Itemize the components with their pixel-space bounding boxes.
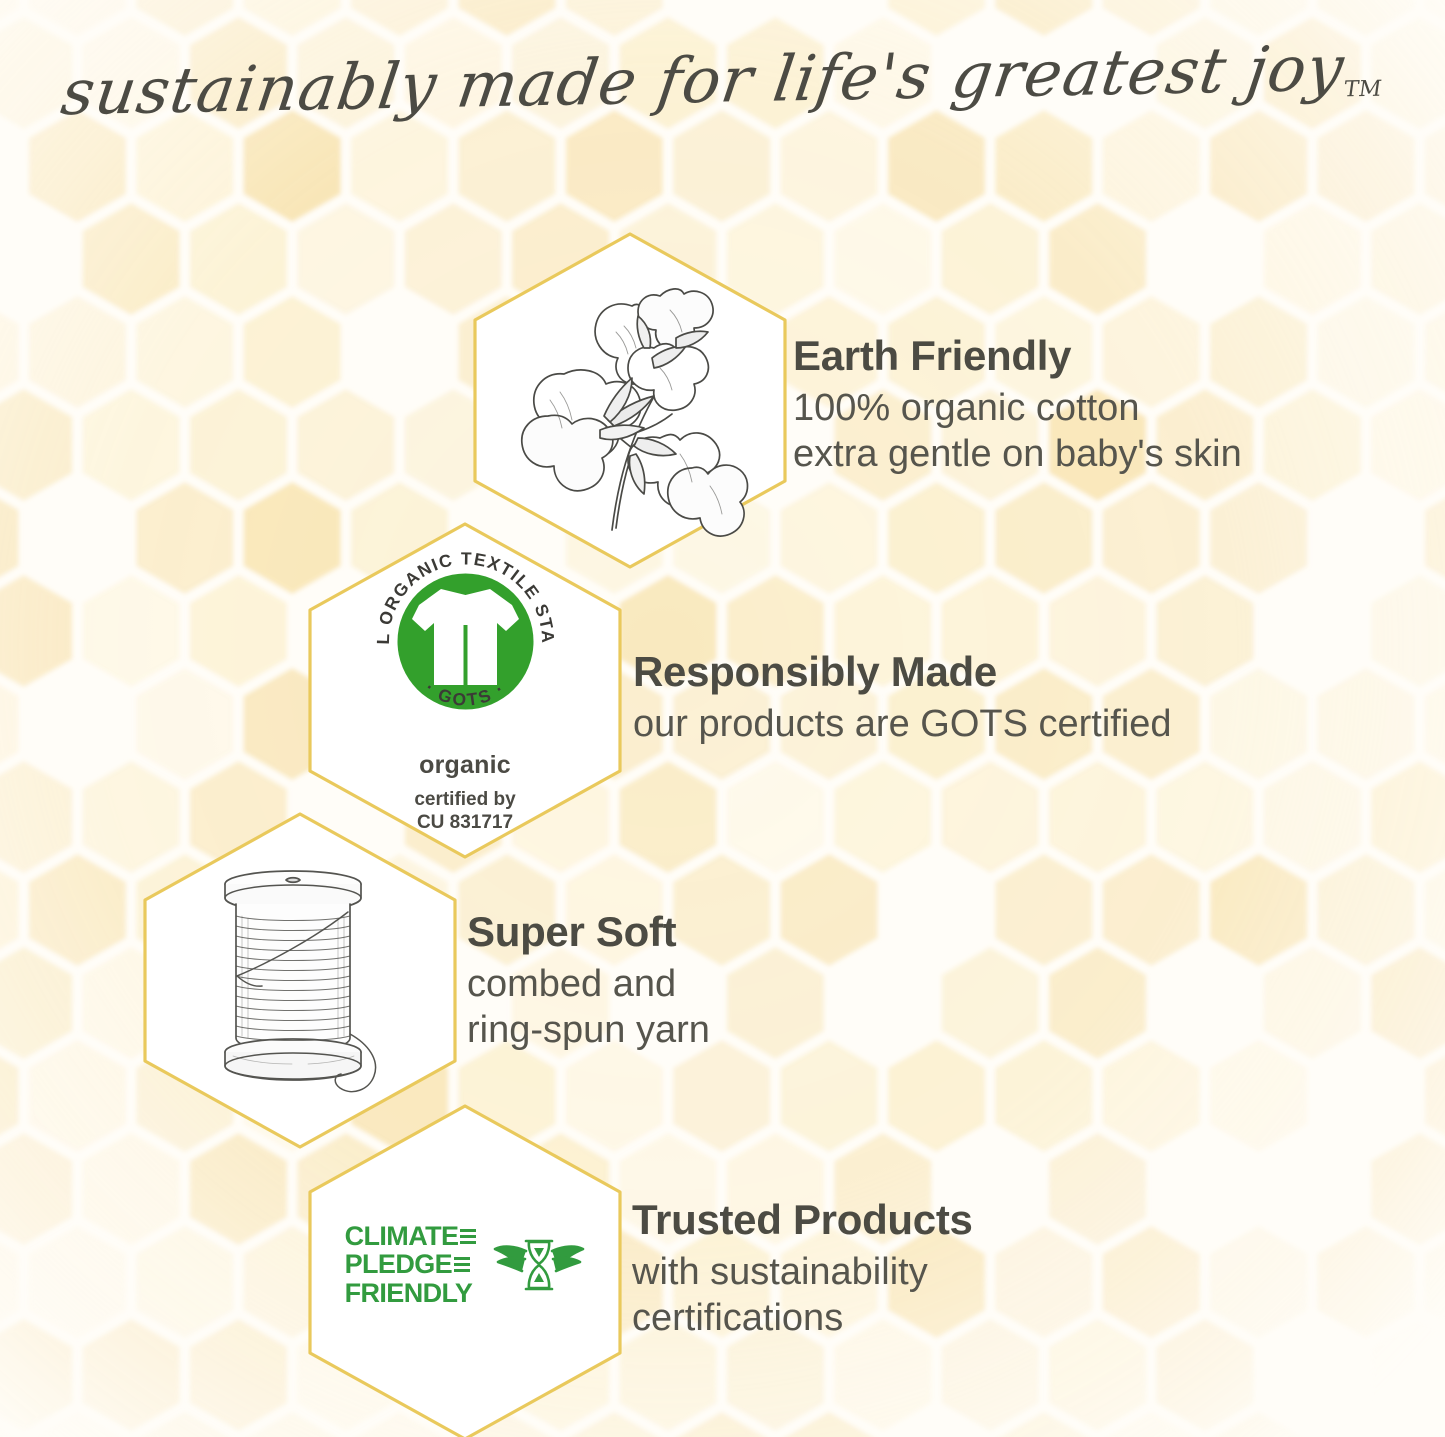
climate-pledge-wordmark: CLIMATE PLEDGE FRIENDLY bbox=[345, 1222, 477, 1307]
gots-caption-organic: organic bbox=[419, 751, 511, 780]
feature-title: Trusted Products bbox=[632, 1196, 973, 1243]
cpf-line-2: PLEDGE bbox=[345, 1250, 452, 1278]
feature-line: our products are GOTS certified bbox=[633, 702, 1172, 748]
cpf-line-1: CLIMATE bbox=[345, 1222, 459, 1250]
climate-pledge-friendly-logo: CLIMATE PLEDGE FRIENDLY bbox=[300, 1100, 630, 1437]
feature-line: with sustainability bbox=[632, 1250, 973, 1296]
cpf-bars-icon bbox=[460, 1229, 476, 1244]
feature-line: extra gentle on baby's skin bbox=[793, 432, 1242, 478]
feature-line: 100% organic cotton bbox=[793, 386, 1242, 432]
feature-line: ring-spun yarn bbox=[467, 1008, 710, 1054]
gots-seal-icon: GLOBAL ORGANIC TEXTILE STANDARD · GOTS · bbox=[363, 539, 568, 744]
feature-title: Earth Friendly bbox=[793, 332, 1242, 379]
feature-line: combed and bbox=[467, 962, 710, 1008]
cpf-line-3: FRIENDLY bbox=[345, 1279, 473, 1307]
feature-title: Responsibly Made bbox=[633, 648, 1172, 695]
feature-text-responsibly-made: Responsibly Made our products are GOTS c… bbox=[633, 648, 1172, 748]
cpf-bars-icon bbox=[454, 1257, 470, 1272]
winged-hourglass-icon bbox=[493, 1229, 585, 1301]
gots-certified-by-line: certified by bbox=[414, 789, 515, 810]
feature-hexagon-trusted-products: CLIMATE PLEDGE FRIENDLY bbox=[300, 1100, 630, 1437]
feature-text-super-soft: Super Soft combed and ring-spun yarn bbox=[467, 908, 710, 1054]
feature-line: certifications bbox=[632, 1296, 973, 1342]
feature-title: Super Soft bbox=[467, 908, 710, 955]
feature-text-trusted-products: Trusted Products with sustainability cer… bbox=[632, 1196, 973, 1342]
feature-text-earth-friendly: Earth Friendly 100% organic cotton extra… bbox=[793, 332, 1242, 478]
infographic-canvas: sustainably made for life's greatest joy… bbox=[0, 0, 1445, 1437]
